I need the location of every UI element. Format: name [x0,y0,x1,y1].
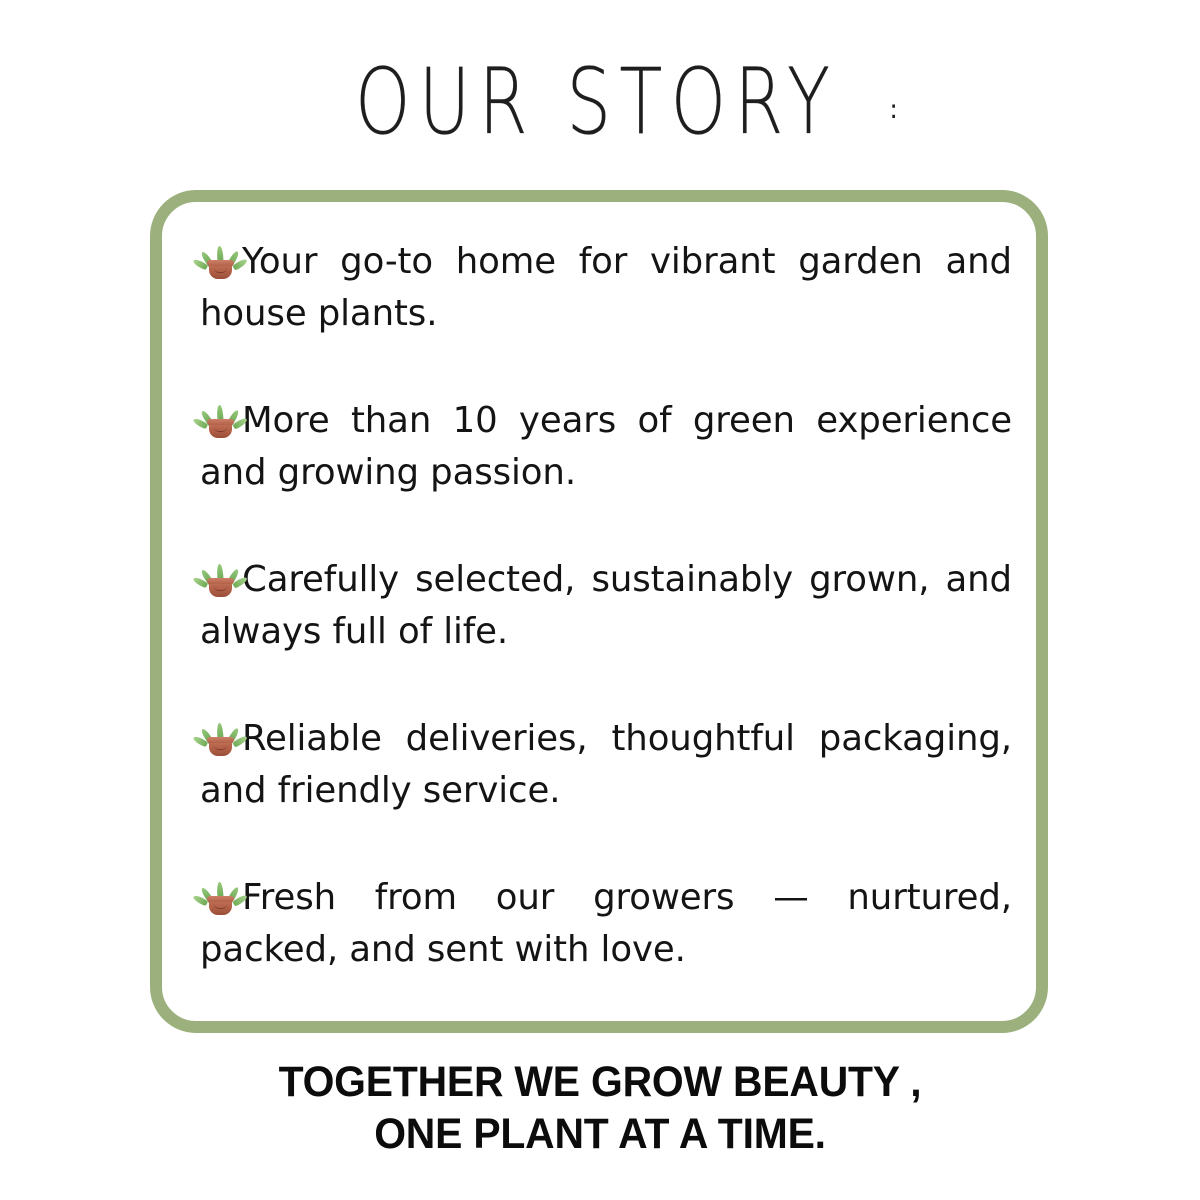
list-item-text: More than 10 years of green experience a… [200,400,1012,493]
list-item-text: Reliable deliveries, thoughtful packagin… [200,718,1012,811]
potted-plant-icon [200,241,240,281]
potted-plant-icon [200,877,240,917]
potted-plant-icon [200,559,240,599]
tagline-line-2: ONE PLANT AT A TIME. [30,1108,1170,1160]
list-item: Reliable deliveries, thoughtful packagin… [200,713,1012,817]
page-title-text: OUR STORY [355,57,838,148]
story-card: Your go-to home for vibrant garden and h… [150,190,1048,1033]
potted-plant-icon [200,718,240,758]
story-list: Your go-to home for vibrant garden and h… [200,236,1012,976]
list-item: More than 10 years of green experience a… [200,395,1012,499]
list-item-text: Carefully selected, sustainably grown, a… [200,559,1012,652]
page-title: OUR STORY: [0,62,1200,148]
potted-plant-icon [200,400,240,440]
list-item: Fresh from our growers — nurtured, packe… [200,872,1012,976]
list-item: Carefully selected, sustainably grown, a… [200,554,1012,658]
our-story-poster: OUR STORY: Your go-to home for vibrant g… [0,0,1200,1200]
list-item: Your go-to home for vibrant garden and h… [200,236,1012,340]
list-item-text: Fresh from our growers — nurtured, packe… [200,877,1012,970]
tagline-line-1: TOGETHER WE GROW BEAUTY , [30,1056,1170,1108]
page-title-colon: : [889,95,898,125]
list-item-text: Your go-to home for vibrant garden and h… [200,241,1012,334]
tagline: TOGETHER WE GROW BEAUTY , ONE PLANT AT A… [0,1056,1200,1160]
